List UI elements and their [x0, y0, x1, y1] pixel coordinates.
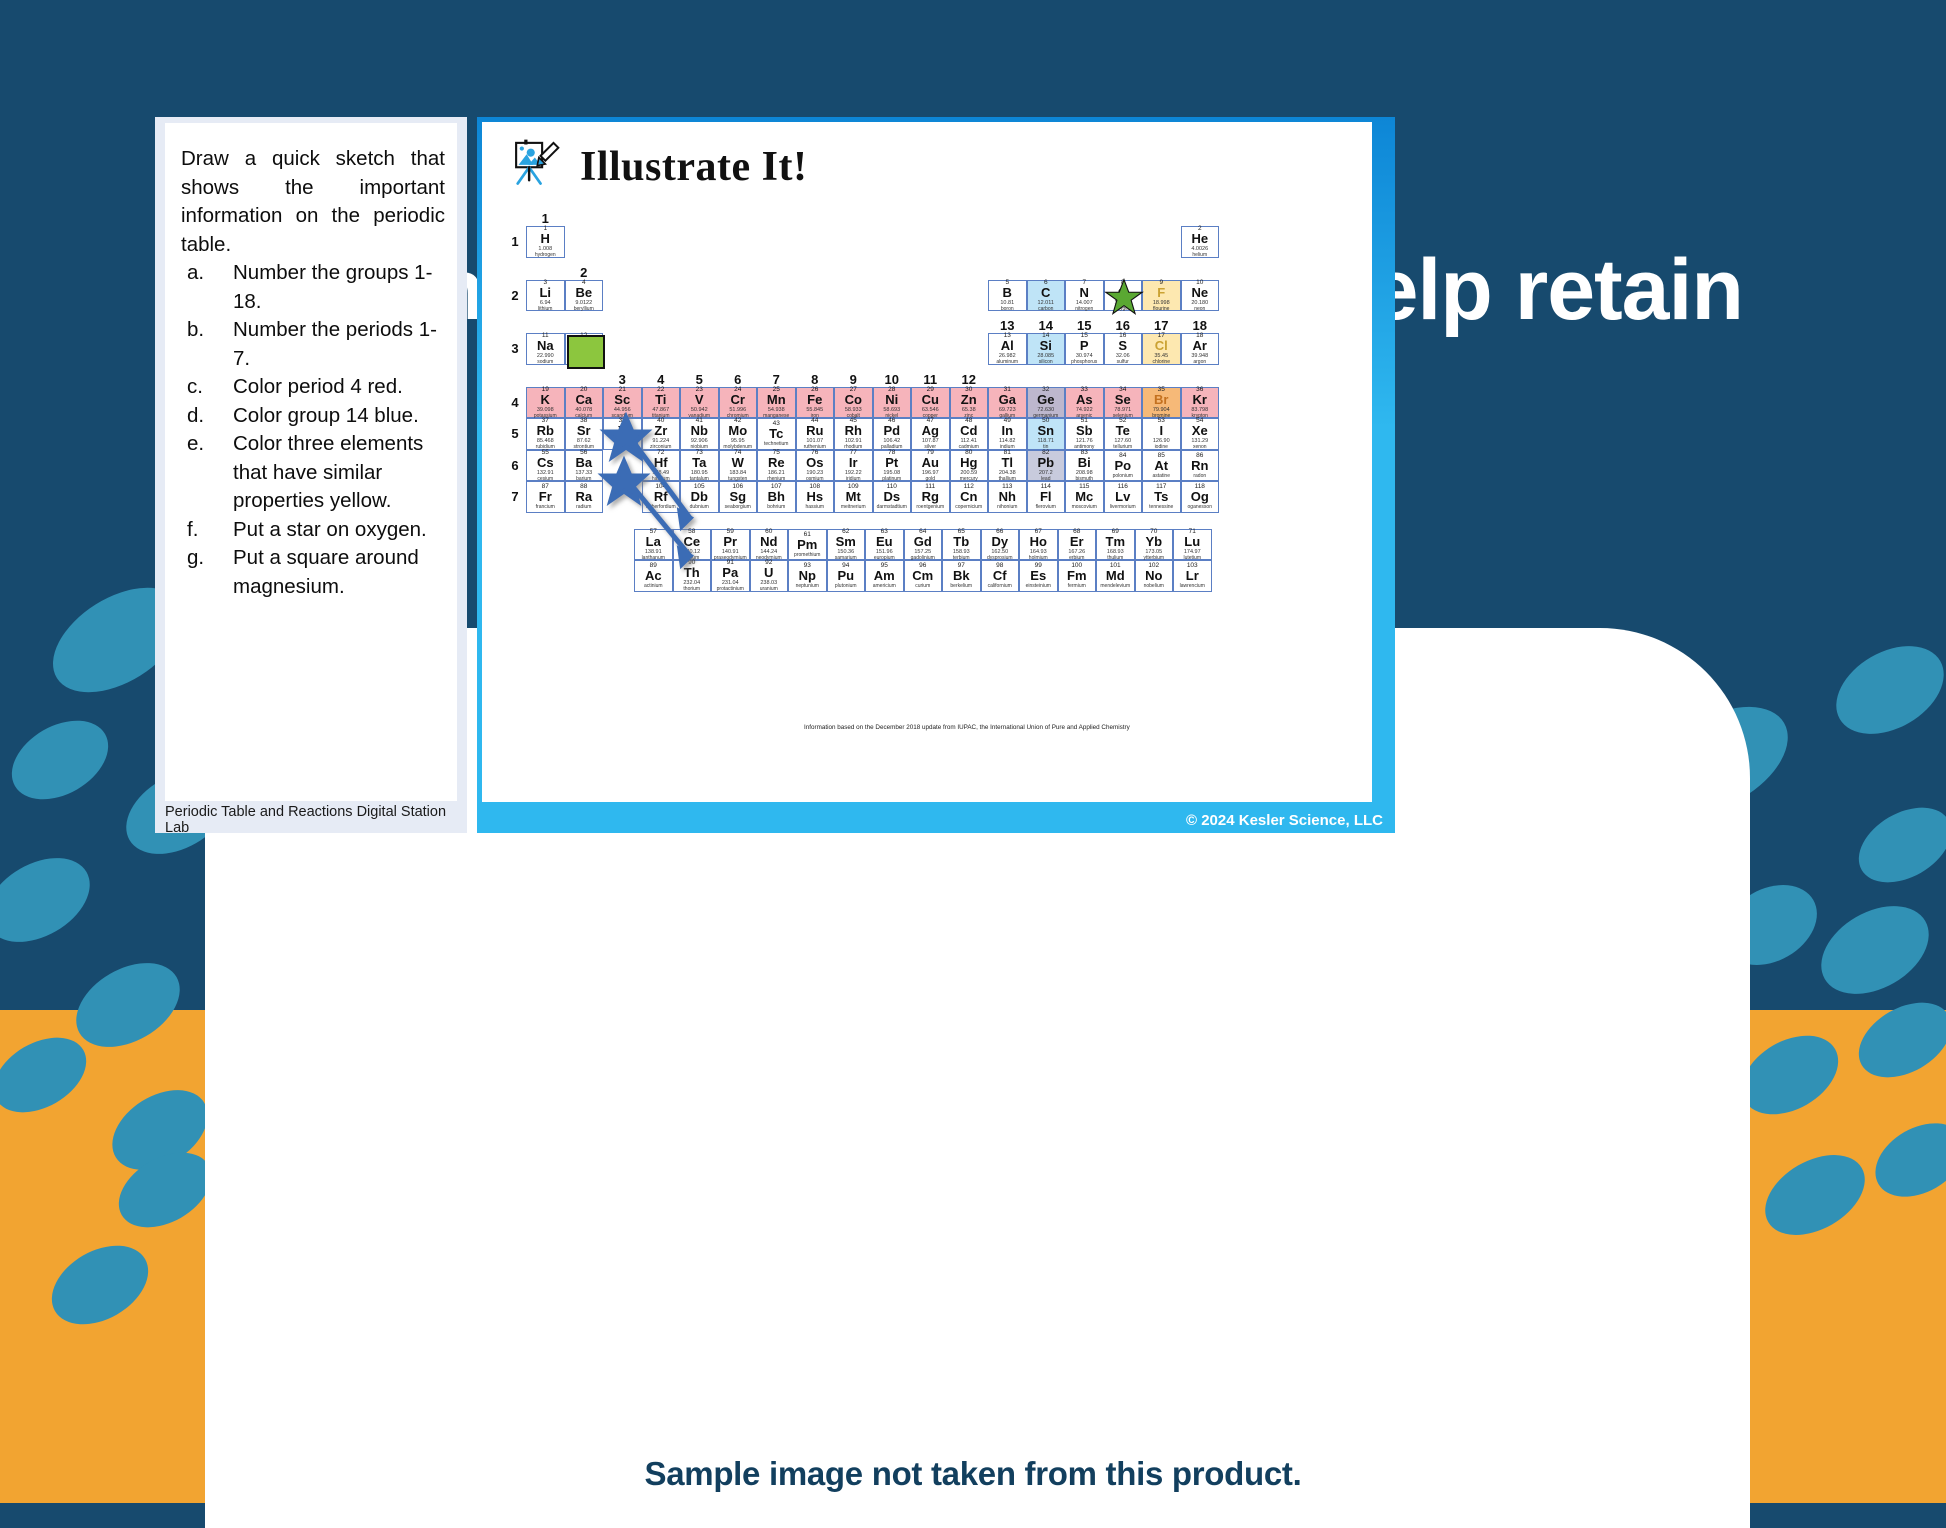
group-number: 13 — [988, 311, 1027, 333]
element-cell[interactable]: 21Sc44.956scandium — [603, 387, 642, 419]
periodic-table-row: 419K39.098potassium20Ca40.078calcium21Sc… — [504, 387, 1354, 419]
element-name: berkelium — [950, 583, 972, 589]
element-cell[interactable]: 43Tctechnetium — [757, 418, 796, 450]
element-cell[interactable]: 112Cncopernicium — [950, 481, 989, 513]
element-symbol: Rn — [1191, 459, 1208, 473]
element-symbol: Ar — [1193, 339, 1207, 353]
element-symbol: He — [1191, 232, 1208, 246]
magnesium-square-marker — [567, 335, 605, 369]
element-cell[interactable]: 32Ge72.630germanium — [1027, 387, 1066, 419]
element-cell[interactable]: 90Th232.04thorium — [673, 560, 712, 592]
element-name: seaborgium — [725, 504, 751, 510]
step-text: Number the groups 1-18. — [233, 261, 432, 313]
element-name: helium — [1192, 252, 1207, 258]
iupac-footnote: Information based on the December 2018 u… — [804, 724, 1130, 731]
group-number-row: 1 — [504, 204, 1354, 226]
element-symbol: Fr — [539, 490, 552, 504]
element-cell[interactable]: 25Mn54.938manganese — [757, 387, 796, 419]
element-cell[interactable]: 72Hf178.49hafnium — [642, 450, 681, 482]
element-cell[interactable]: 44Ru101.07ruthenium — [796, 418, 835, 450]
grid-spacer — [603, 280, 988, 312]
element-cell[interactable]: 105Dbdubnium — [680, 481, 719, 513]
element-symbol: Tl — [1001, 456, 1013, 470]
element-symbol: Sm — [836, 535, 856, 549]
group-number: 15 — [1065, 311, 1104, 333]
group-number: 8 — [796, 365, 835, 387]
element-cell[interactable]: 2He4.0026helium — [1181, 226, 1220, 258]
element-cell[interactable]: 42Mo95.95molybdenum — [719, 418, 758, 450]
element-symbol: Hf — [654, 456, 668, 470]
element-symbol: Gd — [914, 535, 932, 549]
element-symbol: S — [1118, 339, 1127, 353]
element-cell[interactable]: 40Zr91.224zirconium — [642, 418, 681, 450]
element-symbol: Fm — [1067, 569, 1087, 583]
element-cell[interactable]: 111Rgroentgenium — [911, 481, 950, 513]
element-symbol: Br — [1154, 393, 1168, 407]
element-cell[interactable]: 6C12.011carbon — [1027, 280, 1066, 312]
element-cell[interactable]: 8O15.999oxygen — [1104, 280, 1143, 312]
element-symbol: Tc — [769, 427, 783, 441]
element-symbol: Zn — [961, 393, 977, 407]
instructions-intro: Draw a quick sketch that shows the impor… — [181, 145, 445, 259]
element-cell[interactable]: 106Sgseaborgium — [719, 481, 758, 513]
element-name: neptunium — [796, 583, 819, 589]
element-symbol: Mt — [846, 490, 861, 504]
element-cell[interactable]: 53I126.90iodine — [1142, 418, 1181, 450]
element-cell[interactable]: 19K39.098potassium — [526, 387, 565, 419]
step-marker: g. — [187, 544, 204, 573]
element-symbol: Rg — [922, 490, 939, 504]
element-symbol: Rh — [845, 424, 862, 438]
element-cell[interactable]: 60Nd144.24neodymium — [750, 529, 789, 561]
element-symbol: Np — [799, 569, 816, 583]
element-cell[interactable]: 59Pr140.91praseodymium — [711, 529, 750, 561]
element-cell[interactable]: 46Pd106.42palladium — [873, 418, 912, 450]
element-name: flerovium — [1036, 504, 1056, 510]
element-cell[interactable]: 67Ho164.93holmium — [1019, 529, 1058, 561]
element-symbol: Fl — [1040, 490, 1052, 504]
element-cell[interactable]: 37Rb85.468rubidium — [526, 418, 565, 450]
element-symbol: Ds — [883, 490, 900, 504]
element-cell[interactable]: 93Npneptunium — [788, 560, 827, 592]
element-cell[interactable]: 52Te127.60tellurium — [1104, 418, 1143, 450]
step-marker: a. — [187, 259, 204, 288]
period-number: 7 — [504, 481, 526, 513]
element-cell[interactable]: 10Ne20.180neon — [1181, 280, 1220, 312]
worksheet-header: Illustrate It! — [508, 138, 807, 195]
group-number: 9 — [834, 365, 873, 387]
element-symbol: Ge — [1037, 393, 1054, 407]
element-symbol: Ca — [575, 393, 592, 407]
element-cell[interactable]: 108Hshassium — [796, 481, 835, 513]
element-cell[interactable]: 79Au196.97gold — [911, 450, 950, 482]
element-cell[interactable]: 48Cd112.41cadmium — [950, 418, 989, 450]
element-symbol: Ho — [1030, 535, 1047, 549]
instruction-step: d.Color group 14 blue. — [181, 402, 445, 431]
worksheet-footer-right: © 2024 Kesler Science, LLC — [477, 807, 1395, 833]
element-name: rutherfordium — [646, 504, 676, 510]
element-cell[interactable]: 1H1.008hydrogen — [526, 226, 565, 258]
element-name: dubnium — [690, 504, 709, 510]
element-symbol: Si — [1040, 339, 1052, 353]
element-name: darmstadtium — [877, 504, 907, 510]
element-name: aluminum — [996, 359, 1018, 365]
element-symbol: Pt — [885, 456, 898, 470]
spacer — [504, 311, 526, 333]
element-symbol: Pr — [723, 535, 737, 549]
element-cell[interactable]: 34Se78.971selenium — [1104, 387, 1143, 419]
element-cell[interactable]: 70Yb173.05ytterbium — [1135, 529, 1174, 561]
element-cell[interactable]: 55Cs132.91cesium — [526, 450, 565, 482]
spacer — [504, 204, 526, 226]
step-text: Number the periods 1-7. — [233, 318, 437, 370]
element-cell[interactable]: 83Bi208.98bismuth — [1065, 450, 1104, 482]
actinide-row: 89Acactinium90Th232.04thorium91Pa231.04p… — [634, 560, 1354, 592]
period-number: 4 — [504, 387, 526, 419]
element-cell[interactable]: 113Nhnihonium — [988, 481, 1027, 513]
element-symbol: Lr — [1186, 569, 1199, 583]
element-symbol: H — [541, 232, 550, 246]
element-cell[interactable]: 54Xe131.29xenon — [1181, 418, 1220, 450]
element-symbol: Hg — [960, 456, 977, 470]
element-symbol: V — [695, 393, 704, 407]
element-cell[interactable]: 69Tm168.93thulium — [1096, 529, 1135, 561]
element-cell[interactable]: 18Ar39.948argon — [1181, 333, 1220, 365]
element-cell[interactable]: 84Popolonium — [1104, 450, 1143, 482]
element-symbol: Sg — [729, 490, 746, 504]
element-cell[interactable]: 27Co58.933cobalt — [834, 387, 873, 419]
step-marker: f. — [187, 516, 198, 545]
oxygen-star-marker — [1103, 278, 1145, 321]
group-number: 18 — [1181, 311, 1220, 333]
element-cell[interactable]: 95Amamericium — [865, 560, 904, 592]
element-cell[interactable]: 75Re186.21rhenium — [757, 450, 796, 482]
element-cell[interactable]: 11Na22.990sodium — [526, 333, 565, 365]
element-cell[interactable]: 71Lu174.97lutetium — [1173, 529, 1212, 561]
periodic-table-row: 655Cs132.91cesium56Ba137.33barium72Hf178… — [504, 450, 1354, 482]
group-number: 10 — [873, 365, 912, 387]
element-symbol: Cn — [960, 490, 977, 504]
element-cell[interactable]: 110Dsdarmstadtium — [873, 481, 912, 513]
group-number: 11 — [911, 365, 950, 387]
element-symbol: Tb — [953, 535, 969, 549]
instruction-step: f.Put a star on oxygen. — [181, 516, 445, 545]
period-number: 5 — [504, 418, 526, 450]
step-marker: d. — [187, 402, 204, 431]
element-cell[interactable]: 68Er167.26erbium — [1058, 529, 1097, 561]
element-cell[interactable]: 81Tl204.38thallium — [988, 450, 1027, 482]
element-cell[interactable]: 26Fe55.845iron — [796, 387, 835, 419]
element-cell[interactable]: 74W183.84tungsten — [719, 450, 758, 482]
element-cell[interactable]: 12Mg24.305magnesium — [565, 333, 604, 365]
grid-spacer — [565, 226, 1181, 258]
element-cell[interactable]: 92U238.03uranium — [750, 560, 789, 592]
element-symbol: Te — [1116, 424, 1130, 438]
element-cell[interactable]: 45Rh102.91rhodium — [834, 418, 873, 450]
element-cell[interactable]: 4Be9.0122beryllium — [565, 280, 604, 312]
group-number: 4 — [642, 365, 681, 387]
element-symbol: P — [1080, 339, 1089, 353]
period-number: 2 — [504, 280, 526, 312]
step-text: Color group 14 blue. — [233, 404, 419, 427]
element-cell[interactable]: 86Rnradon — [1181, 450, 1220, 482]
spacer — [504, 365, 526, 387]
element-cell[interactable]: 104Rfrutherfordium — [642, 481, 681, 513]
element-name: livermorium — [1110, 504, 1136, 510]
element-symbol: Zr — [654, 424, 667, 438]
element-symbol: Ba — [575, 456, 592, 470]
element-cell[interactable]: 28Ni58.693nickel — [873, 387, 912, 419]
element-symbol: Be — [575, 286, 592, 300]
element-cell[interactable]: 66Dy162.50dysprosium — [981, 529, 1020, 561]
element-cell[interactable]: 114Flflerovium — [1027, 481, 1066, 513]
element-symbol: No — [1145, 569, 1162, 583]
element-cell[interactable]: 51Sb121.76antimony — [1065, 418, 1104, 450]
element-cell[interactable]: 17Cl35.45chlorine — [1142, 333, 1181, 365]
element-symbol: Rb — [537, 424, 554, 438]
element-name: argon — [1193, 359, 1206, 365]
instruction-step: b.Number the periods 1-7. — [181, 316, 445, 373]
element-symbol: Er — [1070, 535, 1084, 549]
periodic-table-row: 787Frfrancium88Raradium104Rfrutherfordiu… — [504, 481, 1354, 513]
element-symbol: Tm — [1106, 535, 1126, 549]
step-marker: b. — [187, 316, 204, 345]
element-symbol: Yb — [1145, 535, 1162, 549]
element-name: sulfur — [1117, 359, 1129, 365]
element-cell[interactable]: 14Si28.085silicon — [1027, 333, 1066, 365]
element-symbol: Cr — [731, 393, 745, 407]
element-cell[interactable]: 7N14.007nitrogen — [1065, 280, 1104, 312]
element-cell[interactable]: 88Raradium — [565, 481, 604, 513]
instruction-step: e.Color three elements that have similar… — [181, 430, 445, 516]
element-name: nihonium — [997, 504, 1017, 510]
element-cell[interactable]: 64Gd157.25gadolinium — [904, 529, 943, 561]
spacer — [504, 258, 526, 280]
element-cell[interactable]: 87Frfrancium — [526, 481, 565, 513]
group-number-row: 2 — [504, 258, 1354, 280]
element-symbol: Rf — [654, 490, 668, 504]
element-cell[interactable]: 23V50.942vanadium — [680, 387, 719, 419]
period-number: 1 — [504, 226, 526, 258]
period-number: 6 — [504, 450, 526, 482]
element-symbol: At — [1154, 459, 1168, 473]
element-cell[interactable]: 29Cu63.546copper — [911, 387, 950, 419]
step-text: Put a star on oxygen. — [233, 518, 427, 541]
grid-spacer — [603, 450, 642, 482]
instructions-step-list: a.Number the groups 1-18.b.Number the pe… — [181, 259, 445, 601]
element-name: bohrium — [767, 504, 785, 510]
element-cell[interactable]: 24Cr51.996chromium — [719, 387, 758, 419]
element-symbol: Th — [684, 566, 700, 580]
element-cell[interactable]: 56Ba137.33barium — [565, 450, 604, 482]
element-cell[interactable]: 9F18.998flourine — [1142, 280, 1181, 312]
element-cell[interactable]: 118Ogoganesson — [1181, 481, 1220, 513]
element-name: hassium — [805, 504, 824, 510]
element-cell[interactable]: 76Os190.23osmium — [796, 450, 835, 482]
element-symbol: Li — [539, 286, 551, 300]
element-symbol: Og — [1191, 490, 1209, 504]
group-number: 3 — [603, 365, 642, 387]
element-symbol: Ne — [1191, 286, 1208, 300]
element-symbol: Mc — [1075, 490, 1093, 504]
worksheet-pane: Illustrate It! — [477, 117, 1395, 807]
group-number: 1 — [526, 204, 565, 226]
element-cell[interactable]: 80Hg200.59mercury — [950, 450, 989, 482]
element-cell[interactable]: 49In114.82indium — [988, 418, 1027, 450]
element-name: curium — [915, 583, 930, 589]
element-name: thorium — [683, 586, 700, 592]
element-symbol: Ac — [645, 569, 662, 583]
element-name: mendelevium — [1100, 583, 1130, 589]
element-cell[interactable]: 117Tstennessine — [1142, 481, 1181, 513]
element-cell[interactable]: 73Ta180.95tantalum — [680, 450, 719, 482]
element-cell[interactable]: 61Pmpromethium — [788, 529, 827, 561]
worksheet-title: Illustrate It! — [580, 143, 807, 191]
element-cell[interactable]: 65Tb158.93terbium — [942, 529, 981, 561]
element-cell[interactable]: 41Nb92.906niobium — [680, 418, 719, 450]
element-symbol: Se — [1115, 393, 1131, 407]
element-cell[interactable]: 50Sn118.71tin — [1027, 418, 1066, 450]
element-name: silicon — [1039, 359, 1053, 365]
element-name: fermium — [1068, 583, 1086, 589]
element-name: moscovium — [1072, 504, 1097, 510]
element-cell[interactable]: 101Mdmendelevium — [1096, 560, 1135, 592]
element-cell[interactable]: 94Puplutonium — [827, 560, 866, 592]
element-cell[interactable]: 62Sm150.36samarium — [827, 529, 866, 561]
element-cell[interactable]: 96Cmcurium — [904, 560, 943, 592]
group-number: 12 — [950, 365, 989, 387]
element-cell[interactable]: 91Pa231.04protactinium — [711, 560, 750, 592]
periodic-table-row: 11H1.008hydrogen2He4.0026helium — [504, 226, 1354, 258]
element-cell[interactable]: 36Kr83.798krypton — [1181, 387, 1220, 419]
element-symbol: Dy — [991, 535, 1008, 549]
element-cell[interactable]: 38Sr87.62strontium — [565, 418, 604, 450]
element-cell[interactable]: 30Zn65.38zinc — [950, 387, 989, 419]
element-name: uranium — [760, 586, 778, 592]
element-name: plutonium — [835, 583, 857, 589]
element-cell[interactable]: 97Bkberkelium — [942, 560, 981, 592]
element-name: protactinium — [717, 586, 744, 592]
element-symbol: C — [1041, 286, 1050, 300]
element-cell[interactable]: 89Acactinium — [634, 560, 673, 592]
lanthanide-actinide-block: 57La138.91lanthanum58Ce140.12cerium59Pr1… — [634, 529, 1354, 592]
element-symbol: Mn — [767, 393, 786, 407]
element-symbol: Lv — [1115, 490, 1130, 504]
instruction-step: a.Number the groups 1-18. — [181, 259, 445, 316]
element-cell[interactable]: 102Nonobelium — [1135, 560, 1174, 592]
element-cell[interactable]: 115Mcmoscovium — [1065, 481, 1104, 513]
element-name: actinium — [644, 583, 663, 589]
element-cell[interactable]: 3Li6.94lithium — [526, 280, 565, 312]
group-number: 5 — [680, 365, 719, 387]
element-name: einsteinium — [1026, 583, 1051, 589]
element-cell[interactable]: 63Eu151.96europium — [865, 529, 904, 561]
element-cell[interactable]: 47Ag107.87silver — [911, 418, 950, 450]
element-name: americium — [873, 583, 896, 589]
element-cell[interactable]: 103Lrlawrencium — [1173, 560, 1212, 592]
element-symbol: Xe — [1192, 424, 1208, 438]
element-cell[interactable]: 39Y88.906yttrium — [603, 418, 642, 450]
element-symbol: Au — [922, 456, 939, 470]
instruction-step: c.Color period 4 red. — [181, 373, 445, 402]
element-symbol: Es — [1030, 569, 1046, 583]
element-symbol: Os — [806, 456, 823, 470]
easel-paintbrush-icon — [508, 138, 560, 195]
element-symbol: N — [1080, 286, 1089, 300]
element-name: meitnerium — [841, 504, 866, 510]
group-number: 6 — [719, 365, 758, 387]
group-number: 17 — [1142, 311, 1181, 333]
element-symbol: Db — [691, 490, 708, 504]
element-cell[interactable]: 15P30.974phosphorus — [1065, 333, 1104, 365]
element-name: technetium — [764, 441, 788, 447]
element-cell[interactable]: 33As74.922arsenic — [1065, 387, 1104, 419]
element-cell[interactable]: 77Ir192.22iridium — [834, 450, 873, 482]
instruction-step: g.Put a square around magnesium. — [181, 544, 445, 601]
element-cell[interactable]: 109Mtmeitnerium — [834, 481, 873, 513]
element-name: nitrogen — [1075, 306, 1093, 312]
element-name: francium — [536, 504, 555, 510]
element-symbol: Pa — [722, 566, 738, 580]
element-name: carbon — [1038, 306, 1053, 312]
group-number: 2 — [565, 258, 604, 280]
element-name: copernicium — [955, 504, 982, 510]
element-cell[interactable]: 82Pb207.2lead — [1027, 450, 1066, 482]
element-cell[interactable]: 100Fmfermium — [1058, 560, 1097, 592]
element-symbol: F — [1157, 286, 1165, 300]
element-cell[interactable]: 98Cfcalifornium — [981, 560, 1020, 592]
element-cell[interactable]: 85Atastatine — [1142, 450, 1181, 482]
element-name: boron — [1001, 306, 1014, 312]
element-name: flourine — [1153, 306, 1169, 312]
element-cell[interactable]: 5B10.81boron — [988, 280, 1027, 312]
step-marker: e. — [187, 430, 204, 459]
element-symbol: Ce — [683, 535, 700, 549]
element-symbol: Pm — [797, 538, 817, 552]
element-symbol: K — [541, 393, 550, 407]
element-symbol: Cd — [960, 424, 977, 438]
element-cell[interactable]: 31Ga69.723gallium — [988, 387, 1027, 419]
element-symbol: Lu — [1184, 535, 1200, 549]
element-cell[interactable]: 107Bhbohrium — [757, 481, 796, 513]
element-symbol: La — [646, 535, 661, 549]
element-symbol: Sn — [1037, 424, 1054, 438]
group-number-row: 131415161718 — [504, 311, 1354, 333]
element-cell[interactable]: 35Br79.904bromine — [1142, 387, 1181, 419]
period-number: 3 — [504, 333, 526, 365]
element-symbol: Sr — [577, 424, 591, 438]
element-cell[interactable]: 116Lvlivermorium — [1104, 481, 1143, 513]
element-cell[interactable]: 13Al26.982aluminum — [988, 333, 1027, 365]
element-cell[interactable]: 16S32.06sulfur — [1104, 333, 1143, 365]
instructions-sheet: Draw a quick sketch that shows the impor… — [165, 123, 457, 801]
element-name: radon — [1193, 473, 1206, 479]
sample-disclaimer-caption: Sample image not taken from this product… — [0, 1455, 1946, 1493]
element-cell[interactable]: 57La138.91lanthanum — [634, 529, 673, 561]
element-symbol: Fe — [807, 393, 822, 407]
element-cell[interactable]: 22Ti47.867titanium — [642, 387, 681, 419]
element-symbol: Cl — [1155, 339, 1168, 353]
element-name: promethium — [794, 552, 820, 558]
element-cell[interactable]: 20Ca40.078calcium — [565, 387, 604, 419]
element-symbol: Ru — [806, 424, 823, 438]
element-symbol: B — [1003, 286, 1012, 300]
element-symbol: Cs — [537, 456, 554, 470]
element-cell[interactable]: 99Eseinsteinium — [1019, 560, 1058, 592]
element-symbol: Nb — [691, 424, 708, 438]
element-cell[interactable]: 58Ce140.12cerium — [673, 529, 712, 561]
element-cell[interactable]: 78Pt195.08platinum — [873, 450, 912, 482]
